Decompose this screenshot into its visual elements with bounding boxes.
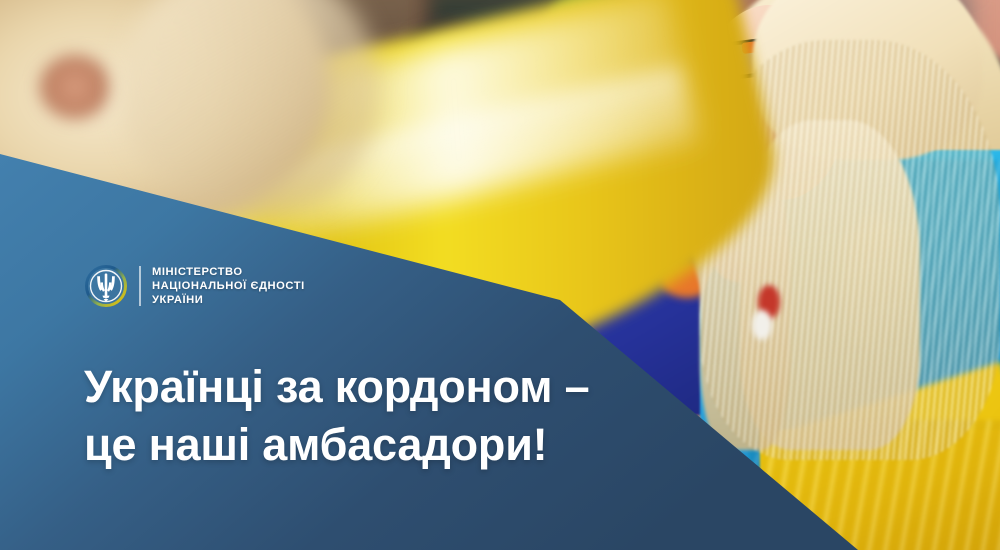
logo-divider (139, 266, 141, 306)
ministry-name: МІНІСТЕРСТВО НАЦІОНАЛЬНОЇ ЄДНОСТІ УКРАЇН… (152, 265, 305, 308)
ministry-logo[interactable]: МІНІСТЕРСТВО НАЦІОНАЛЬНОЇ ЄДНОСТІ УКРАЇН… (84, 264, 305, 308)
ukraine-trident-emblem (84, 264, 128, 308)
banner-image: МІНІСТЕРСТВО НАЦІОНАЛЬНОЇ ЄДНОСТІ УКРАЇН… (0, 0, 1000, 550)
headline-text: Українці за кордоном – це наші амбасадор… (84, 358, 589, 474)
